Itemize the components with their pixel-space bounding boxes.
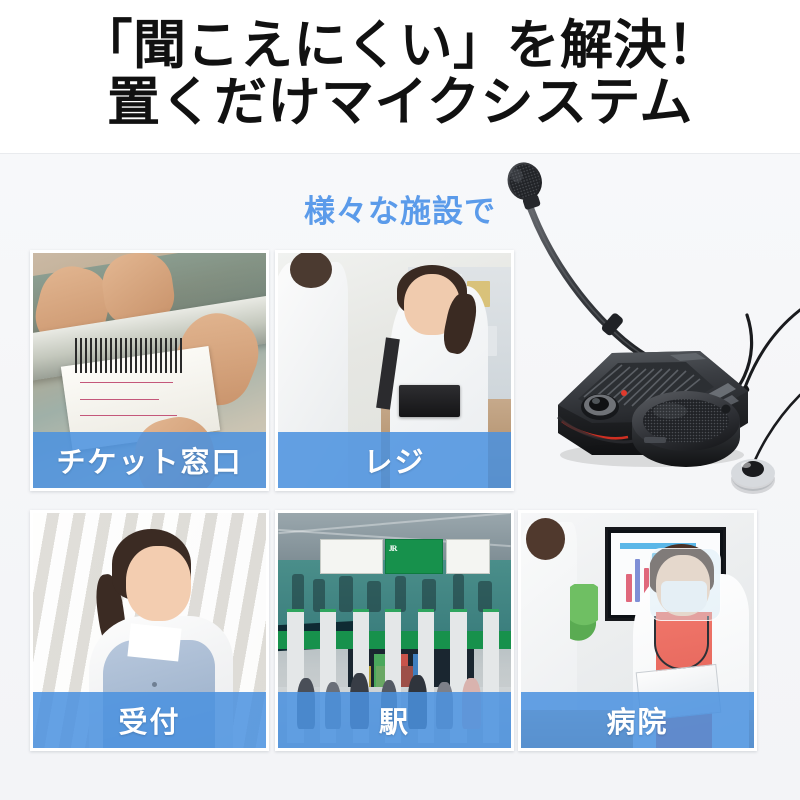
card-inner: レジ xyxy=(278,253,511,488)
face-shield xyxy=(649,548,721,621)
headline-line-1: 「聞こえにくい」を解決！ xyxy=(0,18,800,75)
header-divider xyxy=(0,153,800,154)
header-band: 「聞こえにくい」を解決！ 置くだけマイクシステム xyxy=(0,0,800,153)
card-inner: 病院 xyxy=(521,513,754,748)
assistant-head xyxy=(526,518,566,560)
mural-figure xyxy=(292,574,304,612)
mural-figure xyxy=(367,581,381,612)
section-subtitle: 様々な施設で xyxy=(250,186,550,231)
advertisement-page: 「聞こえにくい」を解決！ 置くだけマイクシステム 様々な施設で xyxy=(0,0,800,800)
potted-plant xyxy=(570,584,598,650)
facility-card-hospital[interactable]: 病院 xyxy=(518,510,757,751)
stethoscope xyxy=(654,616,709,670)
card-inner: JR xyxy=(278,513,511,748)
mural-figure xyxy=(422,579,436,612)
card-caption-reception: 受付 xyxy=(33,692,266,748)
ticket-line xyxy=(80,382,173,383)
screen-chart-bar xyxy=(635,559,640,602)
barcode xyxy=(75,338,182,373)
staff-head xyxy=(126,546,191,621)
card-inner: チケット窓口 xyxy=(33,253,266,488)
facility-card-reception[interactable]: 受付 xyxy=(30,510,269,751)
headline-line-2: 置くだけマイクシステム xyxy=(0,75,800,132)
mural-figure xyxy=(478,581,492,612)
card-inner: 受付 xyxy=(33,513,266,748)
mural-figure xyxy=(453,574,465,612)
card-caption-station: 駅 xyxy=(278,692,511,748)
wallet xyxy=(399,385,460,418)
card-caption-hospital: 病院 xyxy=(521,692,754,748)
mural-figure xyxy=(313,579,325,612)
page-headline: 「聞こえにくい」を解決！ 置くだけマイクシステム xyxy=(0,18,800,131)
facility-card-ticket-window[interactable]: チケット窓口 xyxy=(30,250,269,491)
station-sign-right xyxy=(446,539,490,574)
card-caption-register: レジ xyxy=(278,432,511,488)
card-caption-ticket-window: チケット窓口 xyxy=(33,432,266,488)
facility-card-register[interactable]: レジ xyxy=(275,250,514,491)
clerk-head xyxy=(290,253,332,288)
ticket-line xyxy=(80,399,159,400)
vest-button xyxy=(152,682,157,687)
shirt-collar xyxy=(127,623,181,661)
mural-figure xyxy=(395,576,407,611)
jr-logo: JR xyxy=(389,544,397,553)
facility-card-station[interactable]: JR xyxy=(275,510,514,751)
screen-chart-bar xyxy=(626,574,631,602)
mural-figure xyxy=(339,576,353,611)
ticket-line xyxy=(80,415,178,416)
station-sign-left xyxy=(320,539,383,574)
